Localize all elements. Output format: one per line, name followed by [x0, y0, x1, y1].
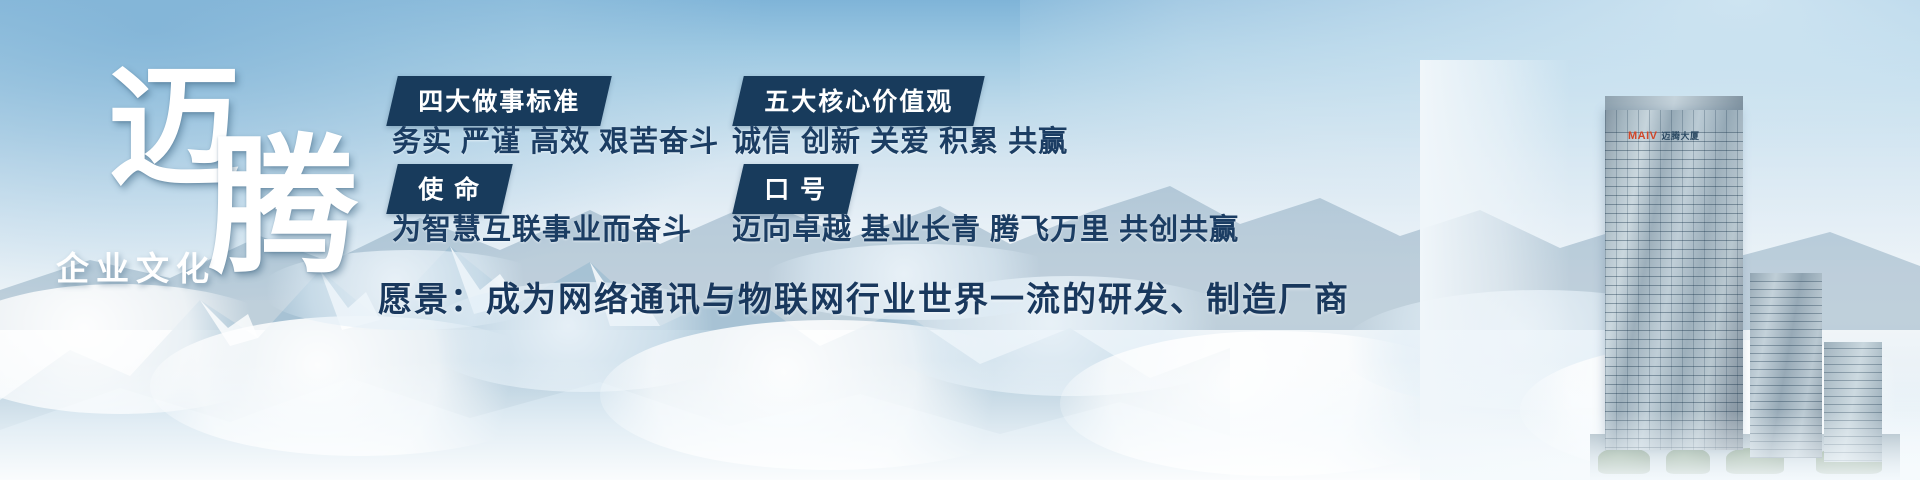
company-logo-mark: MAIV	[1628, 130, 1658, 142]
building-name-label: 迈腾大厦	[1662, 129, 1700, 142]
tower-roof-cap	[1605, 96, 1743, 110]
tag-five-core-values-label: 五大核心价值观	[764, 82, 953, 118]
line-vision: 愿景：成为网络通讯与物联网行业世界一流的研发、制造厂商	[378, 272, 1350, 321]
tag-slogan-label: 口 号	[764, 170, 827, 206]
line-mission: 为智慧互联事业而奋斗	[392, 206, 692, 248]
building-signage: MAIV 迈腾大厦	[1628, 129, 1700, 142]
tag-four-standards-label: 四大做事标准	[418, 82, 580, 118]
headquarters-building-photo: MAIV 迈腾大厦	[1420, 60, 1920, 480]
main-tower	[1605, 110, 1743, 450]
corporate-culture-banner: 迈 腾 企业文化 四大做事标准 务实 严谨 高效 艰苦奋斗 使 命 为智慧互联事…	[0, 0, 1920, 480]
tag-mission-label: 使 命	[418, 170, 481, 206]
photo-bottom-blend	[1420, 410, 1920, 480]
line-five-core-values: 诚信 创新 关爱 积累 共赢	[732, 118, 1068, 160]
line-four-standards: 务实 严谨 高效 艰苦奋斗	[392, 118, 719, 160]
line-slogan: 迈向卓越 基业长青 腾飞万里 共创共赢	[732, 206, 1239, 248]
